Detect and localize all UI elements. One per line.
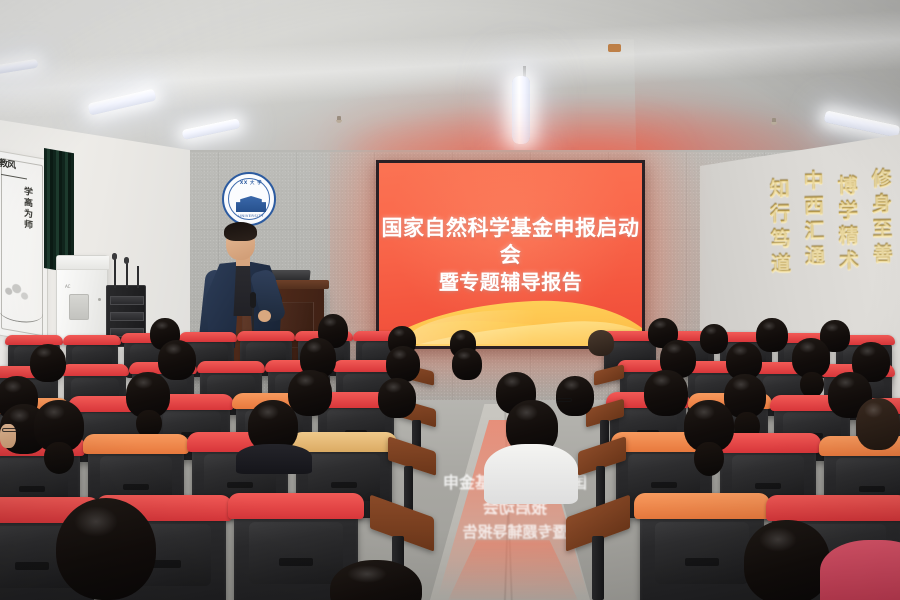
mic-stand [114, 258, 116, 288]
audience-ponytail [44, 442, 74, 474]
audience-head [856, 398, 900, 450]
sprinkler-icon [771, 118, 777, 126]
emblem-top-text: XX 大 学 [224, 180, 278, 186]
air-conditioner-unit: AC [56, 255, 108, 345]
audience-head [378, 378, 416, 418]
slide-title-line1: 国家自然科学基金申报启动会 [379, 215, 642, 269]
audience-head [700, 324, 728, 354]
audience-head [452, 348, 482, 380]
audience-ponytail [800, 372, 824, 398]
calligraphy-column-1: 修身至善 [866, 168, 895, 306]
audience-head [386, 346, 420, 382]
ceiling-light-icon [512, 76, 530, 144]
ac-grill [69, 294, 89, 320]
calligraphy-column-2: 博学精术 [832, 175, 861, 306]
audience-shoulders [820, 540, 900, 600]
presenter-hair [224, 222, 257, 241]
decor-illustration [0, 275, 43, 333]
audience-ponytail [694, 442, 724, 476]
auditorium-photo: 教风 学高为师 XX 大 学 UNIVERSITY 修身至善 博学精术 中西汇通… [0, 0, 900, 600]
audience-shoulders [484, 444, 578, 504]
eyeglasses-icon [2, 428, 20, 432]
calligraphy-column-4: 知行笃道 [764, 178, 793, 306]
audience-shoulders [236, 444, 312, 474]
smoke-detector-icon [608, 44, 621, 52]
audience-head [644, 370, 688, 416]
projection-screen: 国家自然科学基金申报启动会 暨专题辅导报告 [376, 160, 645, 349]
rack-shelf [110, 296, 144, 305]
calligraphy-column-3: 中西汇通 [798, 170, 827, 306]
sprinkler-icon [336, 116, 342, 124]
microphone-icon [124, 257, 129, 264]
microphone-icon [112, 253, 117, 260]
mic-stand [137, 266, 139, 288]
slide-title: 国家自然科学基金申报启动会 暨专题辅导报告 [379, 215, 642, 296]
presenter-right-hand [258, 310, 271, 322]
decor-verse: 学高为师 [13, 184, 33, 232]
slide-title-line2: 暨专题辅导报告 [379, 269, 642, 296]
wall-calligraphy: 修身至善 博学精术 中西汇通 知行笃道 [748, 166, 894, 306]
eyeglasses-icon [556, 398, 572, 402]
rack-shelf [110, 312, 144, 321]
ac-indicator [98, 298, 101, 301]
slide-surface: 国家自然科学基金申报启动会 暨专题辅导报告 [379, 163, 642, 346]
ac-top-vent [57, 256, 109, 270]
audience-head [330, 560, 422, 600]
wall-decor-panel: 教风 学高为师 [0, 150, 48, 344]
handheld-microphone-icon [250, 292, 256, 308]
audience-head [588, 330, 614, 356]
decor-heading: 教风 [0, 156, 15, 172]
audience-head [556, 376, 594, 416]
mic-stand [126, 262, 128, 288]
seat-post [592, 536, 604, 600]
audience-head [744, 520, 830, 600]
ac-logo: AC [65, 284, 70, 289]
audience-head [56, 498, 156, 600]
